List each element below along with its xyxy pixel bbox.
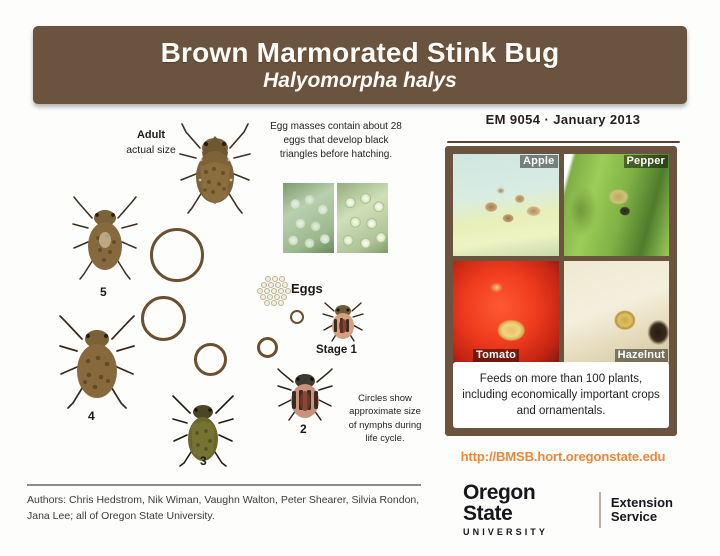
page-title: Brown Marmorated Stink Bug bbox=[161, 38, 560, 67]
footer-divider bbox=[27, 484, 421, 486]
title-banner: Brown Marmorated Stink Bug Halyomorpha h… bbox=[33, 26, 687, 104]
egg-photo-clear bbox=[283, 183, 334, 253]
adult-actual-size-label: Adult actual size bbox=[112, 128, 190, 157]
logo-divider bbox=[599, 492, 601, 528]
stage-number-2: 2 bbox=[300, 422, 307, 436]
logo-left-block: Oregon State UNIVERSITY bbox=[463, 483, 590, 536]
logo-extension: Extension bbox=[611, 496, 673, 510]
egg-mass-note: Egg masses contain about 28 eggs that de… bbox=[266, 120, 406, 163]
nymph-size-circle bbox=[150, 228, 204, 282]
photo-panel-caption: Feeds on more than 100 plants, including… bbox=[453, 362, 669, 428]
photo-label-apple: Apple bbox=[520, 155, 558, 168]
photo-label-pepper: Pepper bbox=[624, 155, 669, 168]
logo-service: Service bbox=[611, 510, 673, 524]
stage-number-4: 4 bbox=[88, 409, 95, 423]
photo-label-hazelnut: Hazelnut bbox=[615, 349, 668, 362]
photo-pepper: Pepper bbox=[564, 154, 670, 256]
damage-photo-panel: Apple Pepper Tomato Hazelnut Feeds on mo… bbox=[445, 146, 677, 436]
oregon-state-extension-logo: Oregon State UNIVERSITY Extension Servic… bbox=[463, 487, 673, 533]
stage1-label: Stage 1 bbox=[316, 344, 357, 356]
circles-size-note: Circles show approximate size of nymphs … bbox=[344, 392, 426, 446]
egg-cluster-illustration bbox=[253, 276, 293, 306]
egg-mass-photos bbox=[283, 183, 388, 253]
logo-university: UNIVERSITY bbox=[463, 527, 548, 537]
adult-label-sub: actual size bbox=[126, 144, 176, 156]
horizontal-rule bbox=[447, 141, 680, 143]
stage-number-3: 3 bbox=[200, 454, 207, 468]
publication-number-date: EM 9054 · January 2013 bbox=[443, 112, 683, 127]
eggs-label: Eggs bbox=[291, 281, 323, 296]
nymph-size-circle bbox=[141, 296, 186, 341]
page-subtitle-scientific-name: Halyomorpha halys bbox=[263, 70, 457, 92]
photo-tomato: Tomato bbox=[453, 261, 559, 363]
stage-number-5: 5 bbox=[100, 285, 107, 299]
photo-grid: Apple Pepper Tomato Hazelnut bbox=[451, 152, 671, 365]
nymph-stage2-image bbox=[277, 368, 333, 422]
bmsb-website-link[interactable]: http://BMSB.hort.oregonstate.edu bbox=[443, 449, 683, 464]
photo-apple: Apple bbox=[453, 154, 559, 256]
logo-oregon-state: Oregon State bbox=[463, 483, 590, 524]
nymph-stage1-image bbox=[322, 300, 364, 342]
nymph-size-circle bbox=[194, 343, 227, 376]
nymph-size-circle bbox=[257, 337, 278, 358]
egg-photo-hatching bbox=[337, 183, 388, 253]
authors-credit: Authors: Chris Hedstrom, Nik Wiman, Vaug… bbox=[27, 492, 427, 525]
photo-label-tomato: Tomato bbox=[473, 349, 519, 362]
poster-page: Brown Marmorated Stink Bug Halyomorpha h… bbox=[0, 0, 720, 556]
adult-label-bold: Adult bbox=[137, 129, 165, 141]
logo-right-block: Extension Service bbox=[611, 496, 673, 524]
nymph-stage5-image bbox=[72, 196, 138, 280]
nymph-size-circle bbox=[290, 310, 304, 324]
photo-hazelnut: Hazelnut bbox=[564, 261, 670, 363]
nymph-stage4-image bbox=[58, 315, 136, 409]
